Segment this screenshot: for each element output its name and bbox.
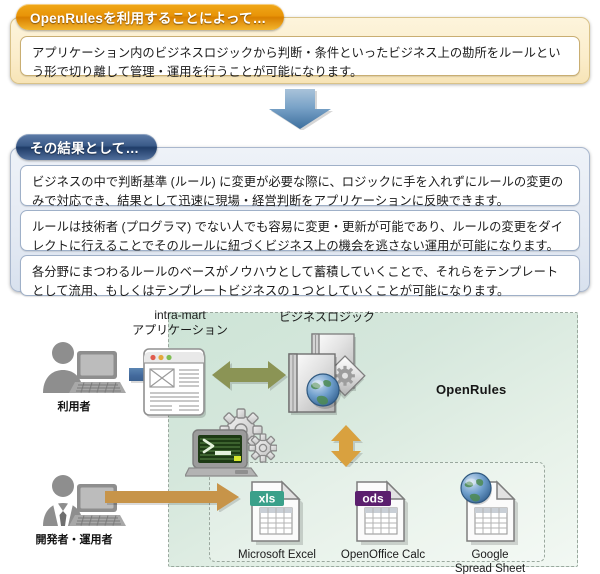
node-label-intramart: intra-mart アプリケーション [130,308,230,338]
openrules-zone-label: OpenRules [436,382,506,397]
svg-text:xls: xls [259,492,276,506]
spreadsheet-label-gsheet: Google Spread Sheet [435,548,545,574]
panel-result-tab: その結果として… [16,134,157,160]
xls-file-icon: xls [249,478,305,546]
result-text-box-0: ビジネスの中で判断基準 (ルール) に変更が必要な際に、ロジックに手を入れずにル… [20,165,580,206]
panel-benefit-tab: OpenRulesを利用することによって… [16,4,284,30]
panel-result: その結果として… ビジネスの中で判断基準 (ルール) に変更が必要な際に、ロジッ… [8,134,592,292]
panel-benefit: OpenRulesを利用することによって… アプリケーション内のビジネスロジック… [8,4,592,84]
result-text-1: ルールは技術者 (プログラマ) でない人でも容易に変更・更新が可能であり、ルール… [32,218,568,255]
benefit-text-box-0: アプリケーション内のビジネスロジックから判断・条件といったビジネス上の勘所をルー… [20,36,580,76]
result-text-box-1: ルールは技術者 (プログラマ) でない人でも容易に変更・更新が可能であり、ルール… [20,210,580,251]
down-arrow-icon [265,88,335,135]
spreadsheet-label-excel: Microsoft Excel [222,548,332,562]
arrow-app-to-logic [212,358,288,392]
result-text-2: 各分野にまつわるルールのベースがノウハウとして蓄積していくことで、それらをテンプ… [32,263,568,300]
person-computer-icon [30,335,126,397]
page-root: OpenRulesを利用することによって… アプリケーション内のビジネスロジック… [0,0,600,574]
node-label-business-logic: ビジネスロジック [272,310,382,325]
terminal-gears-icon [185,408,277,484]
documents-globe-icon [283,332,379,424]
arrow-dev-to-sheets [105,482,241,512]
actor-label-user: 利用者 [22,398,126,414]
arrow-logic-to-sheets [330,425,364,467]
result-text-box-2: 各分野にまつわるルールのベースがノウハウとして蓄積していくことで、それらをテンプ… [20,255,580,296]
actor-label-developer: 開発者・運用者 [16,531,132,547]
benefit-text-0: アプリケーション内のビジネスロジックから判断・条件といったビジネス上の勘所をルー… [32,44,568,81]
google-spreadsheet-icon [460,472,520,546]
result-text-0: ビジネスの中で判断基準 (ルール) に変更が必要な際に、ロジックに手を入れずにル… [32,173,568,210]
spreadsheet-label-calc: OpenOffice Calc [328,548,438,562]
architecture-diagram: OpenRules 利用者 [0,300,600,574]
svg-text:ods: ods [362,492,384,506]
ods-file-icon: ods [354,478,410,546]
